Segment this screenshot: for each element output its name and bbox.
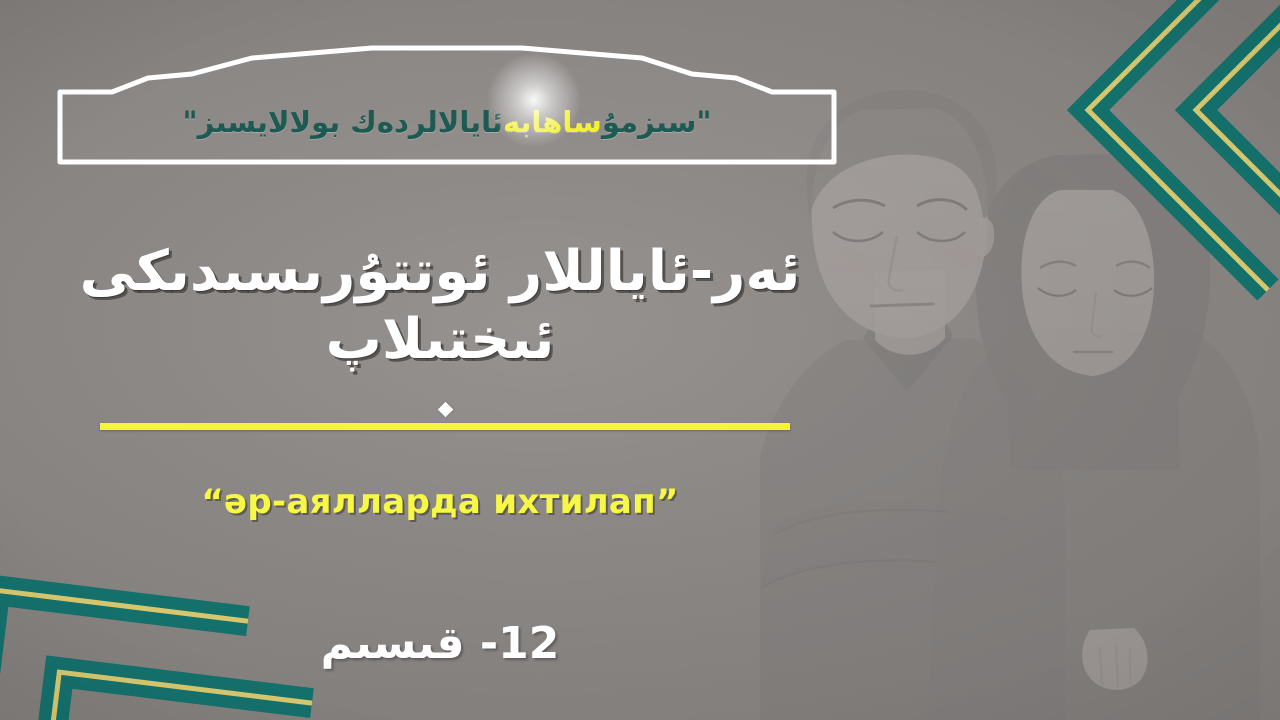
banner-segment-2: ئايالالردەك بولالايسىز xyxy=(198,105,503,139)
banner-quote: "سىزمۇ ساھابە ئايالالردەك بولالايسىز" xyxy=(52,40,842,170)
title-line-2: ئىختىلاپ xyxy=(40,306,840,374)
banner-segment-highlight: ساھابە xyxy=(503,105,602,139)
banner-quote-open: " xyxy=(696,105,711,139)
slide-canvas: "سىزمۇ ساھابە ئايالالردەك بولالايسىز" ئە… xyxy=(0,0,1280,720)
banner-segment-1: سىزمۇ xyxy=(602,105,697,139)
part-number-label: 12- قىسىم xyxy=(40,618,840,669)
subtitle-cyrillic: “әр-аялларда ихтилап” xyxy=(40,482,840,522)
title-divider xyxy=(100,423,790,430)
main-title: ئەر-ئاياللار ئوتتۇرىسىدىكى ئىختىلاپ xyxy=(40,238,840,375)
title-line-1: ئەر-ئاياللار ئوتتۇرىسىدىكى xyxy=(40,238,840,306)
banner-quote-close: " xyxy=(183,105,198,139)
banner-plaque: "سىزمۇ ساھابە ئايالالردەك بولالايسىز" xyxy=(52,40,842,170)
